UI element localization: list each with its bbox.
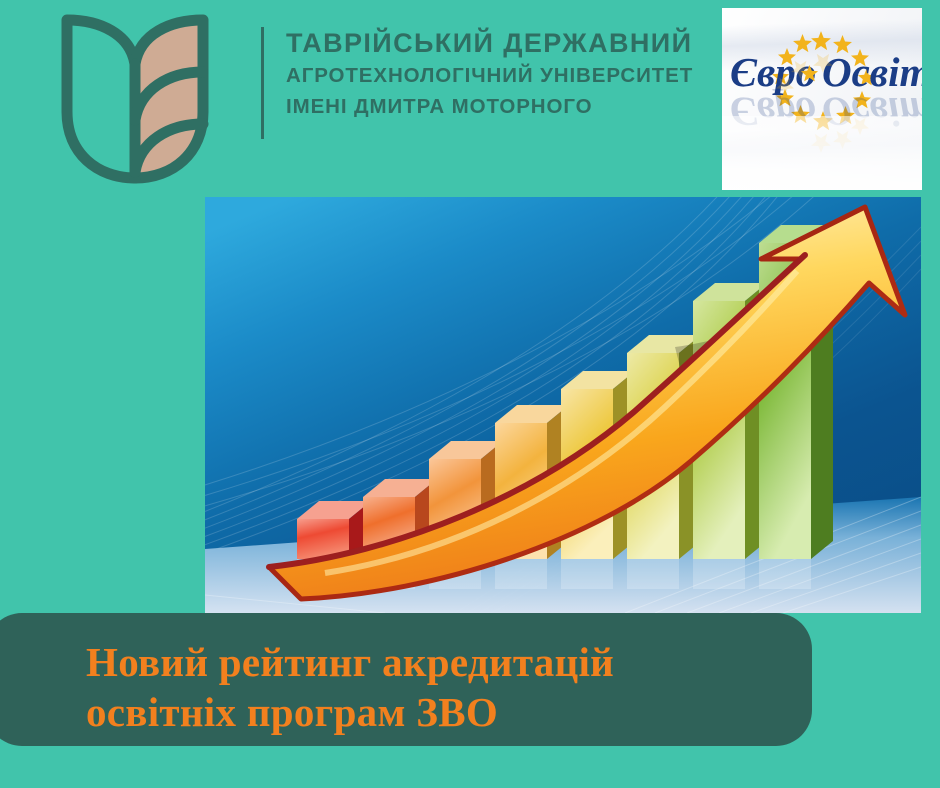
page-root: ТАВРІЙСЬКИЙ ДЕРЖАВНИЙ АГРОТЕХНОЛОГІЧНИЙ … bbox=[0, 0, 940, 788]
page-header: ТАВРІЙСЬКИЙ ДЕРЖАВНИЙ АГРОТЕХНОЛОГІЧНИЙ … bbox=[0, 0, 940, 195]
university-name: ТАВРІЙСЬКИЙ ДЕРЖАВНИЙ АГРОТЕХНОЛОГІЧНИЙ … bbox=[286, 26, 716, 122]
title-panel: Новий рейтинг акредитацій освітніх прогр… bbox=[0, 613, 812, 746]
university-name-line1: ТАВРІЙСЬКИЙ ДЕРЖАВНИЙ bbox=[286, 26, 716, 60]
growth-bar-chart-illustration bbox=[205, 197, 921, 613]
page-title-line2: освітніх програм ЗВО bbox=[86, 687, 786, 737]
university-name-line3: ІМЕНІ ДМИТРА МОТОРНОГО bbox=[286, 91, 716, 122]
page-title-line1: Новий рейтинг акредитацій bbox=[86, 637, 786, 687]
euro-osvita-word2: Освіта bbox=[822, 49, 922, 95]
header-divider bbox=[261, 27, 264, 139]
page-title: Новий рейтинг акредитацій освітніх прогр… bbox=[86, 637, 786, 737]
university-name-line2: АГРОТЕХНОЛОГІЧНИЙ УНІВЕРСИТЕТ bbox=[286, 60, 716, 91]
university-leaf-logo-icon bbox=[40, 12, 230, 187]
euro-osvita-logo: Євро Освіта Євро Освіта bbox=[722, 8, 922, 190]
